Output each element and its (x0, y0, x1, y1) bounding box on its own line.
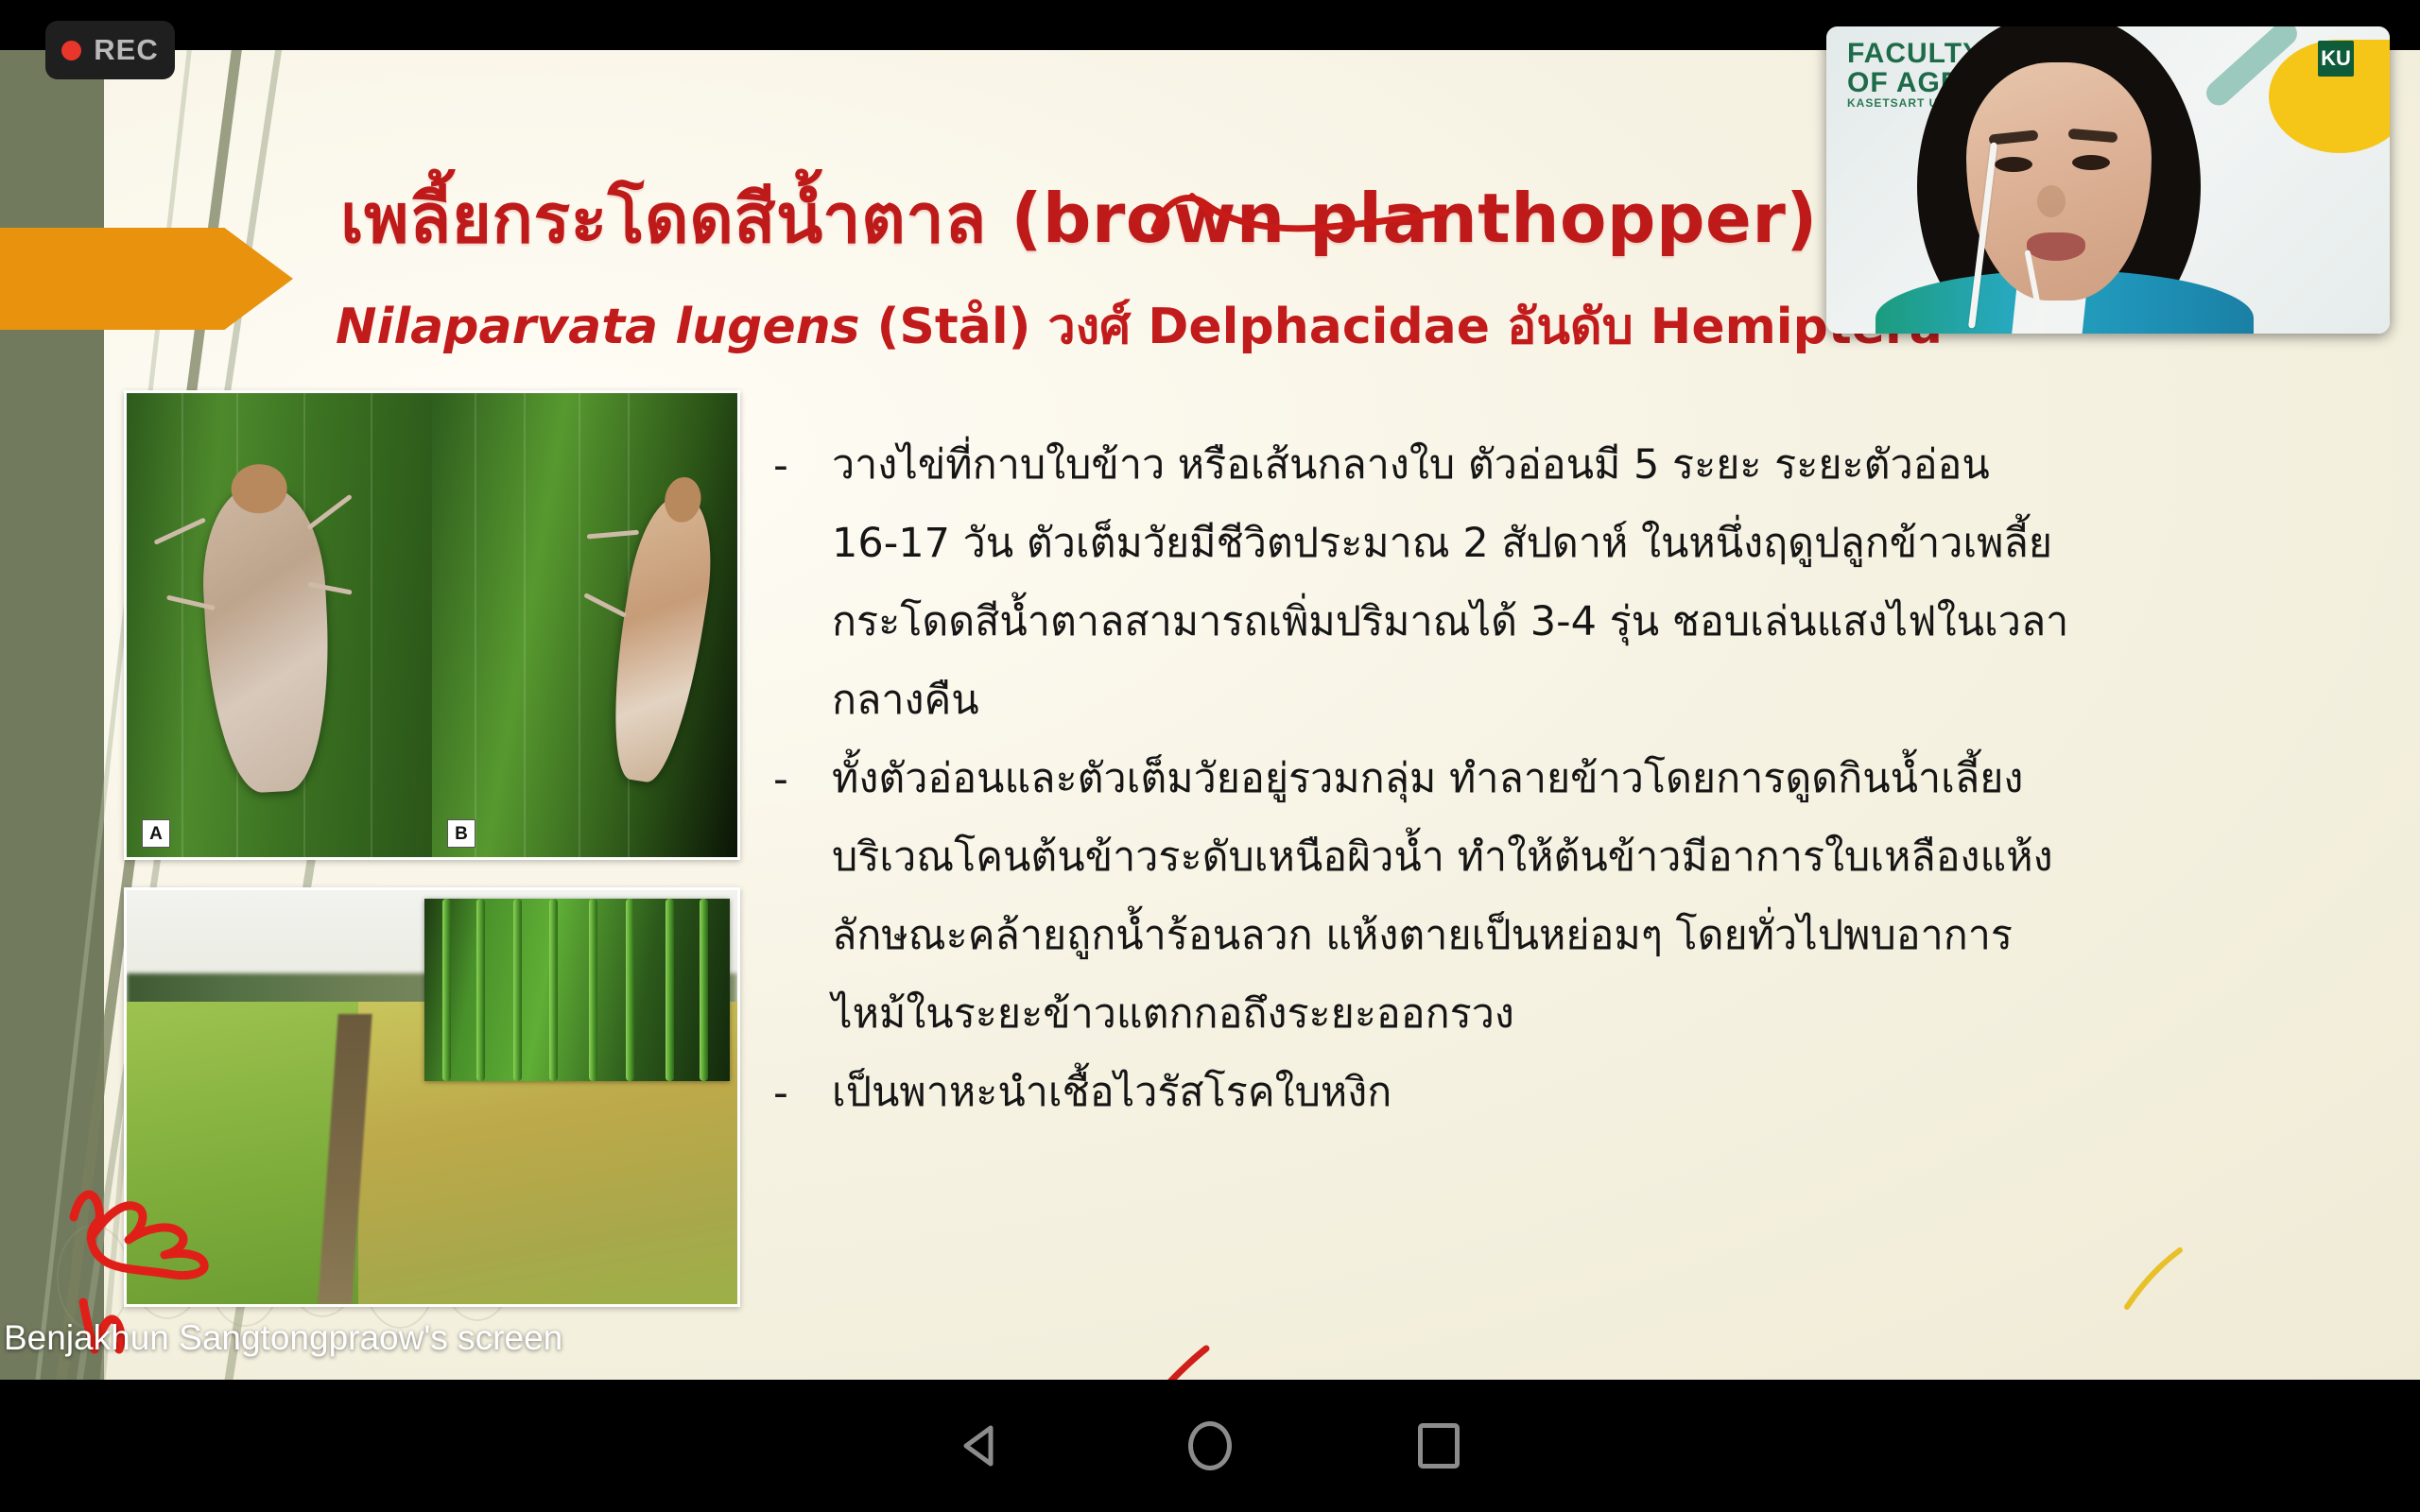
ku-logo-badge: KU (2318, 41, 2354, 77)
presenter-nose (2037, 185, 2066, 217)
webcam-tile-presenter[interactable]: KU FACULTY OF AGRI KASETSART UNIVERSITY (1826, 26, 2390, 334)
screen-root: เพลี้ยกระโดดสีน้ำตาล (brown planthopper)… (0, 0, 2420, 1512)
photo-label-a: A (142, 819, 170, 848)
bullet-item: - วางไข่ที่กาบใบข้าว หรือเส้นกลางใบ ตัวอ… (773, 426, 2399, 740)
android-navigation-bar (0, 1380, 2420, 1512)
recents-square-icon (1418, 1423, 1460, 1469)
rice-stem-inset (424, 899, 730, 1081)
bullet-line: บริเวณโคนต้นข้าวระดับเหนือผิวน้ำ ทำให้ต้… (832, 818, 2399, 897)
nav-back-button[interactable] (948, 1413, 1014, 1479)
presenter-face (1966, 62, 2152, 301)
bullet-line: 16-17 วัน ตัวเต็มวัยมีชีวิตประมาณ 2 สัปด… (832, 505, 2399, 583)
slide-title: เพลี้ยกระโดดสีน้ำตาล (brown planthopper) (340, 163, 1818, 272)
scientific-name: Nilaparvata lugens (336, 299, 860, 355)
presenter-eye-right (2072, 155, 2110, 170)
bullet-marker: - (773, 426, 832, 505)
photo-rice-field-damage[interactable] (124, 887, 740, 1307)
bullet-lines: เป็นพาหะนำเชื้อไวรัสโรคใบหงิก (832, 1054, 2399, 1132)
presenter-eye-left (1995, 157, 2032, 172)
photo-label-b: B (447, 819, 475, 848)
planthopper-adult (599, 490, 723, 787)
bullet-lines: วางไข่ที่กาบใบข้าว หรือเส้นกลางใบ ตัวอ่อ… (832, 426, 2399, 740)
recording-indicator[interactable]: REC (45, 21, 175, 79)
bullet-line: กลางคืน (832, 661, 2399, 740)
bullet-marker: - (773, 740, 832, 818)
nav-recents-button[interactable] (1406, 1413, 1472, 1479)
photo-brown-planthopper[interactable]: A B (124, 390, 740, 860)
bullet-line: เป็นพาหะนำเชื้อไวรัสโรคใบหงิก (832, 1054, 2399, 1132)
slide-body-text: - วางไข่ที่กาบใบข้าว หรือเส้นกลางใบ ตัวอ… (773, 426, 2399, 1132)
bullet-line: วางไข่ที่กาบใบข้าว หรือเส้นกลางใบ ตัวอ่อ… (832, 426, 2399, 505)
yellow-pen-annotation (2117, 1241, 2193, 1316)
presenter-mouth (2027, 232, 2085, 261)
bullet-line: ไหม้ในระยะข้าวแตกกอถึงระยะออกรวง (832, 975, 2399, 1054)
home-circle-icon (1188, 1421, 1232, 1470)
bullet-marker: - (773, 1054, 832, 1132)
photo-panel-a (127, 393, 432, 857)
nav-home-button[interactable] (1177, 1413, 1243, 1479)
bullet-item: - เป็นพาหะนำเชื้อไวรัสโรคใบหงิก (773, 1054, 2399, 1132)
recording-label: REC (94, 33, 158, 67)
back-triangle-icon (960, 1423, 1002, 1469)
bullet-line: กระโดดสีน้ำตาลสามารถเพิ่มปริมาณได้ 3-4 ร… (832, 583, 2399, 661)
bullet-line: ทั้งตัวอ่อนและตัวเต็มวัยอยู่รวมกลุ่ม ทำล… (832, 740, 2399, 818)
taxonomy-text: (Stål) วงศ์ Delphacidae อันดับ Hemiptera (860, 299, 1943, 355)
bullet-item: - ทั้งตัวอ่อนและตัวเต็มวัยอยู่รวมกลุ่ม ท… (773, 740, 2399, 1054)
planthopper-nymph (199, 483, 337, 795)
red-pen-annotation-bottom-right (1125, 1345, 1257, 1380)
record-dot-icon (61, 41, 81, 60)
bullet-lines: ทั้งตัวอ่อนและตัวเต็มวัยอยู่รวมกลุ่ม ทำล… (832, 740, 2399, 1054)
photo-panel-b (432, 393, 737, 857)
bullet-line: ลักษณะคล้ายถูกน้ำร้อนลวก แห้งตายเป็นหย่อ… (832, 897, 2399, 975)
presenter-screen-label: Benjakhun Sangtongpraow's screen (4, 1318, 562, 1358)
slide-subtitle: Nilaparvata lugens (Stål) วงศ์ Delphacid… (336, 286, 1943, 365)
